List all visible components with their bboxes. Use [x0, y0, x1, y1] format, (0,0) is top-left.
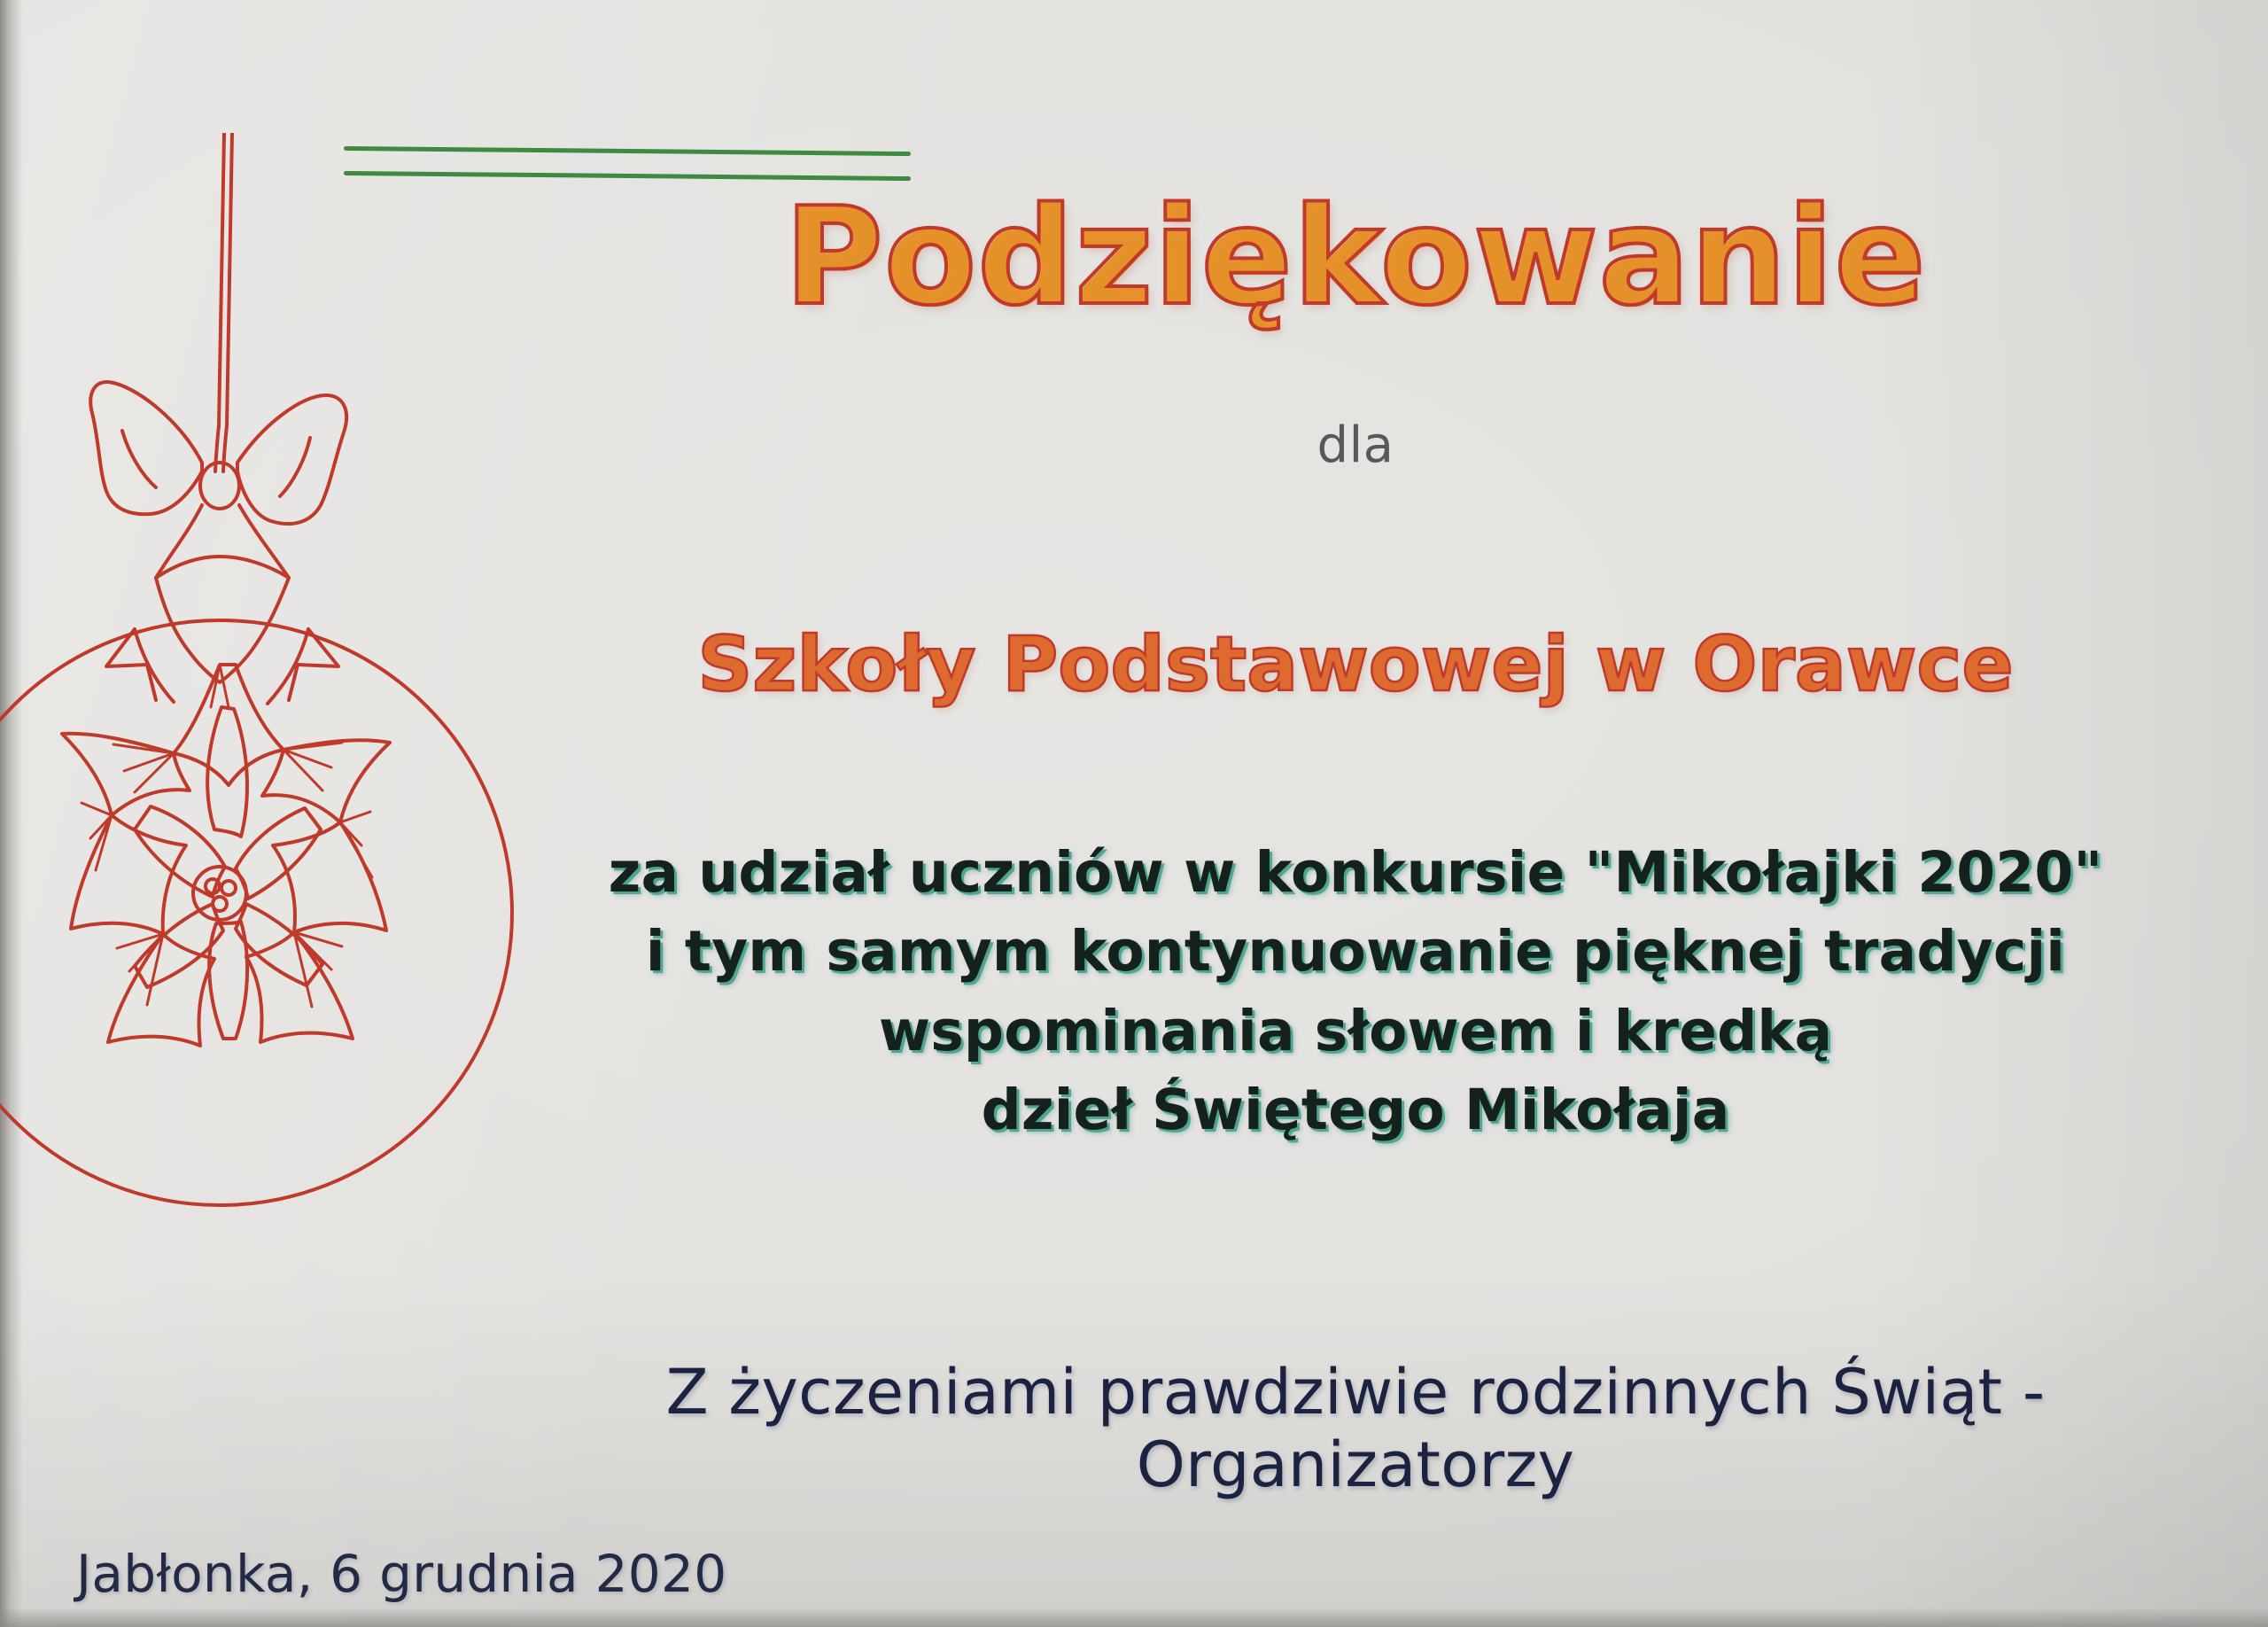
body-text: za udział uczniów w konkursie "Mikołajki… — [496, 833, 2215, 1150]
body-line: dzieł Świętego Mikołaja — [496, 1070, 2215, 1149]
closing-line: Z życzeniami prawdziwie rodzinnych Świąt… — [496, 1356, 2215, 1501]
body-line: za udział uczniów w konkursie "Mikołajki… — [496, 833, 2215, 912]
page-title: Podziękowanie — [496, 186, 2215, 328]
page-title-text: Podziękowanie — [784, 186, 1926, 328]
christmas-bauble-icon — [0, 133, 673, 1462]
date-and-place: Jabłonka, 6 grudnia 2020 — [76, 1544, 726, 1604]
for-label: dla — [496, 416, 2215, 474]
paper-bottom-edge-shadow — [0, 1608, 2268, 1627]
poinsettia-outer-leaves — [62, 665, 390, 1046]
body-line: wspominania słowem i kredką — [496, 992, 2215, 1070]
recipient-name: Szkoły Podstawowej w Orawce — [496, 620, 2215, 709]
poinsettia-leaf-veins — [82, 665, 372, 1007]
body-line: i tym samym kontynuowanie pięknej tradyc… — [496, 912, 2215, 991]
bauble-hanging-string — [215, 133, 232, 471]
